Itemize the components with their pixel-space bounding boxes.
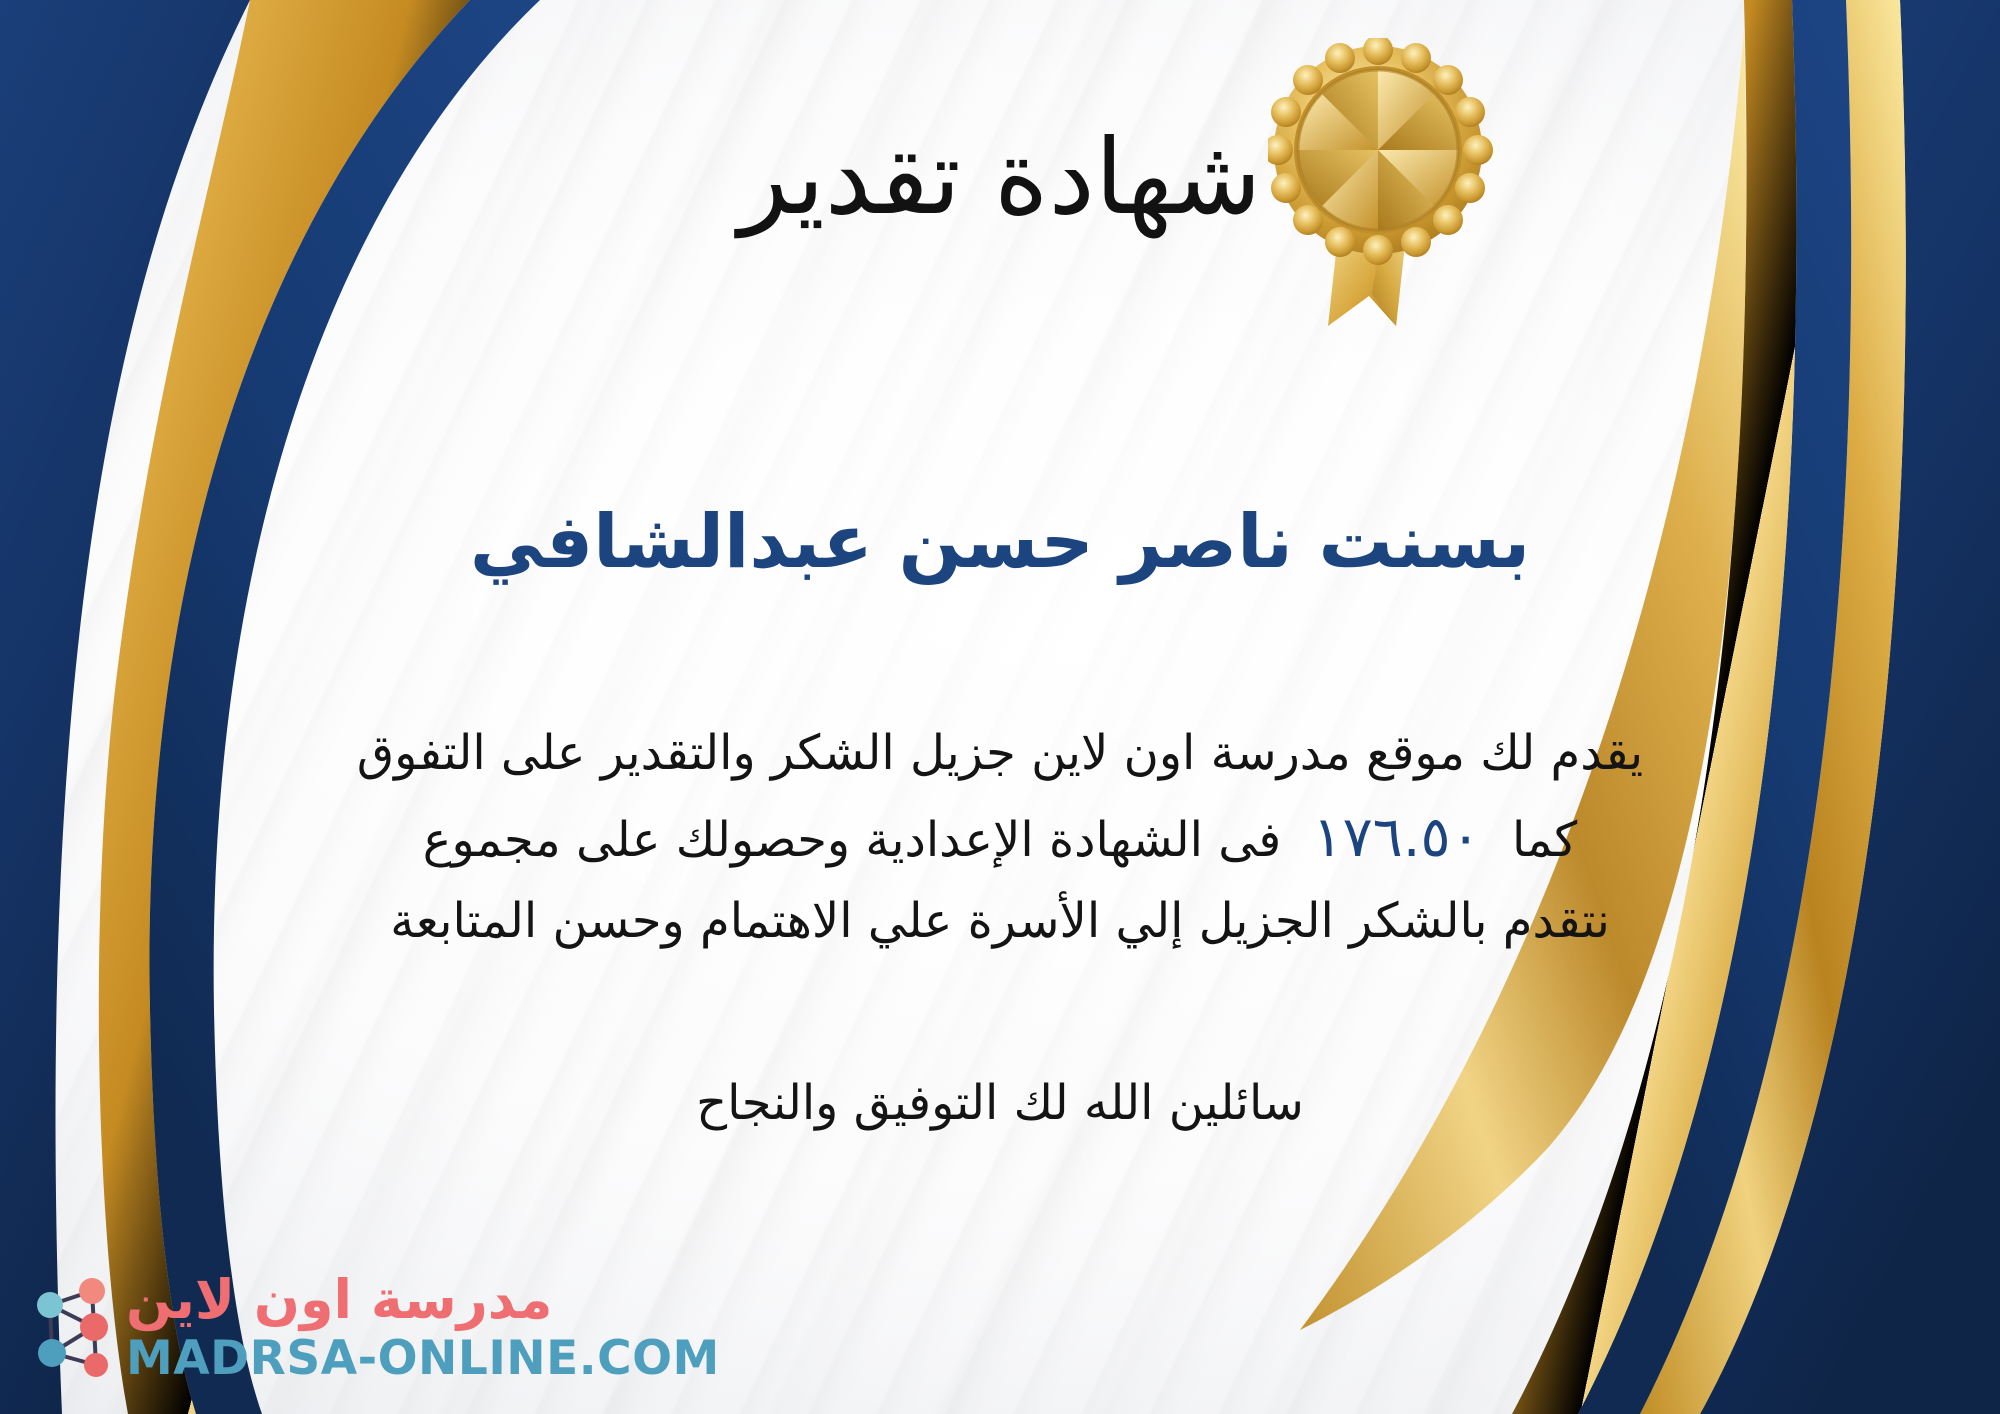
body-line-1: يقدم لك موقع مدرسة اون لاين جزيل الشكر و… (55, 715, 1945, 793)
body-line-2-score: كما ١٧٦.٥٠ فى الشهادة الإعدادية وحصولك ع… (55, 793, 1945, 884)
recipient-name: بسنت ناصر حسن عبدالشافي (0, 500, 2000, 585)
brand-website-url: MADRSA-ONLINE.COM (126, 1335, 720, 1382)
total-score-value: ١٧٦.٥٠ (1296, 793, 1496, 884)
certificate-body: يقدم لك موقع مدرسة اون لاين جزيل الشكر و… (55, 715, 1945, 961)
body-line-3: نتقدم بالشكر الجزيل إلي الأسرة علي الاهت… (55, 883, 1945, 961)
score-after-text: كما (1512, 812, 1577, 868)
closing-line: سائلين الله لك التوفيق والنجاح (0, 1075, 2000, 1131)
network-nodes-icon (24, 1275, 116, 1381)
brand-arabic-name: مدرسة اون لاين (126, 1273, 552, 1327)
score-before-text: فى الشهادة الإعدادية وحصولك على مجموع (423, 812, 1281, 868)
certificate-title: شهادة تقدير (0, 120, 2000, 234)
certificate-page: شهادة تقدير بسنت ناصر حسن عبدالشافي يقدم… (0, 0, 2000, 1414)
brand-logo[interactable]: مدرسة اون لاين MADRSA-ONLINE.COM (24, 1273, 720, 1382)
brand-logo-text: مدرسة اون لاين MADRSA-ONLINE.COM (126, 1273, 720, 1382)
